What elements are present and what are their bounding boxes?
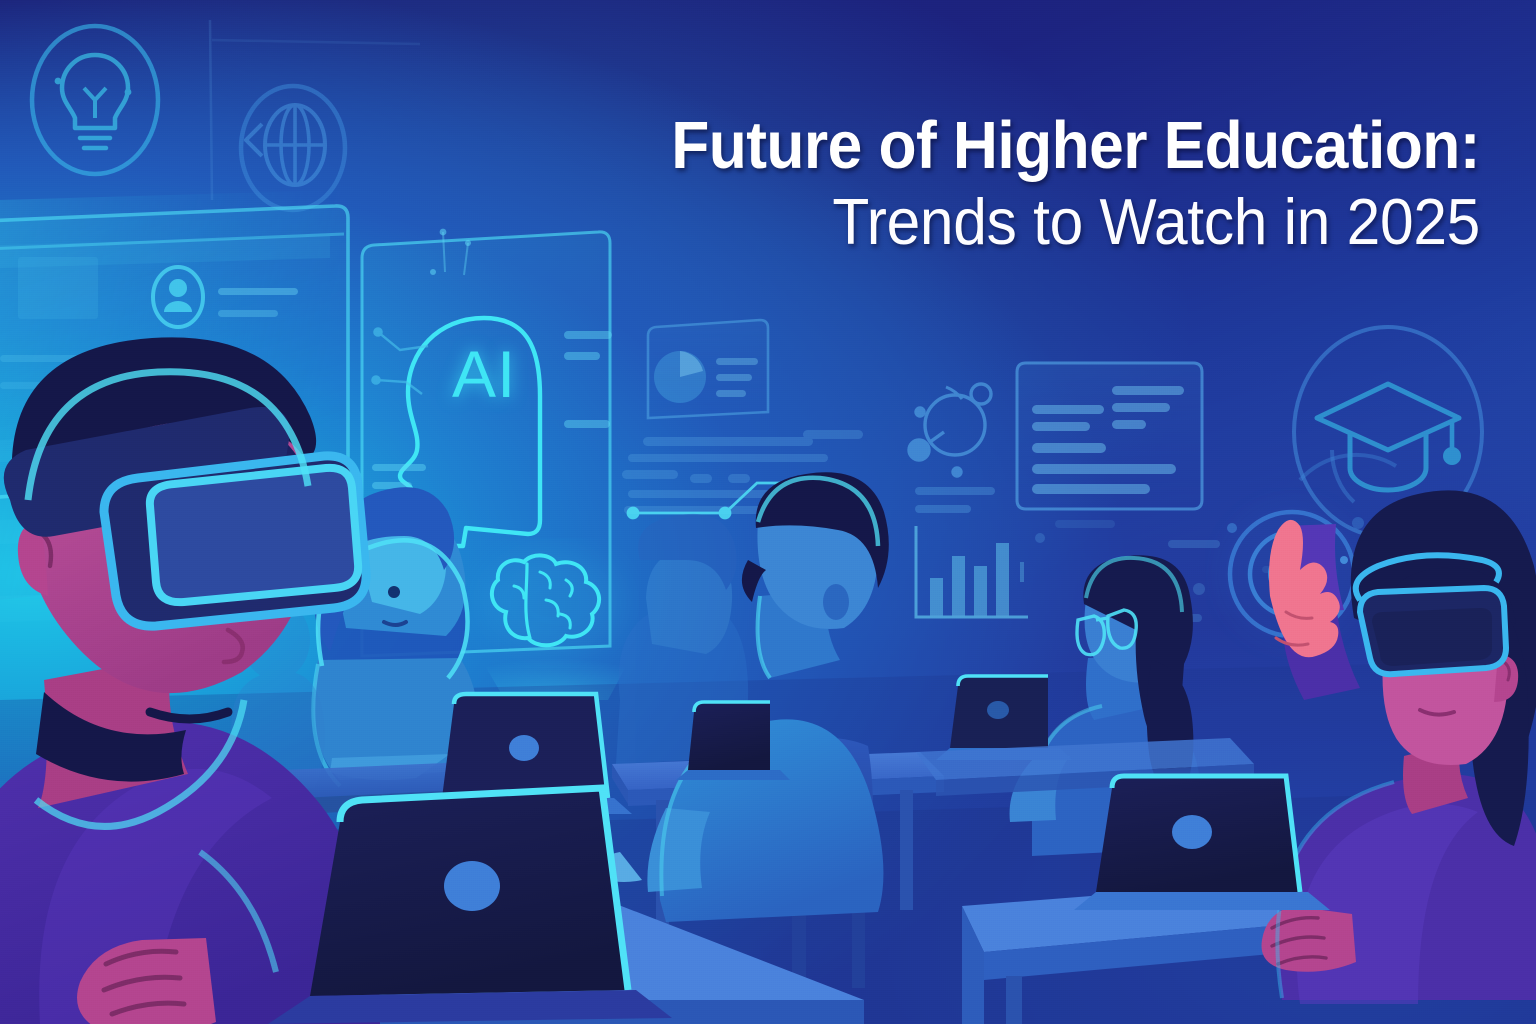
classroom-scene [0,0,1536,1024]
vr-headset-foreground [104,456,366,626]
illustration-canvas: AI Future of Higher Education: Trends to… [0,0,1536,1024]
